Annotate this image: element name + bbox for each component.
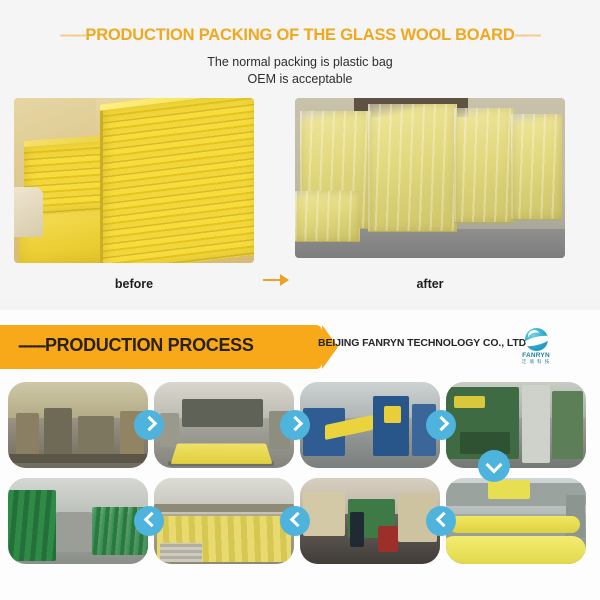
yellow-conveyor — [170, 444, 272, 465]
process-step-photo-5 — [446, 478, 586, 564]
machine-part — [373, 396, 409, 456]
wrapped-bale — [511, 114, 562, 220]
packing-subtitle: The normal packing is plastic bag OEM is… — [0, 54, 600, 88]
machine-part — [16, 413, 38, 458]
caption-before: before — [14, 277, 254, 291]
title-dash-right: ------ — [515, 26, 541, 44]
chevron-left-icon — [280, 506, 310, 536]
chevron-down-icon — [478, 450, 510, 482]
banner-dash: ------ — [18, 335, 45, 355]
process-banner-text: ------PRODUCTION PROCESS — [18, 335, 254, 356]
machine-part — [154, 504, 294, 513]
machine-part — [460, 432, 510, 454]
process-step-photo-2 — [154, 382, 294, 468]
packing-section: ------PRODUCTION PACKING OF THE GLASS WO… — [0, 0, 600, 300]
machine-part — [303, 492, 345, 537]
photo-after-packing — [295, 98, 565, 258]
machine-part — [454, 396, 485, 408]
chevron-right-icon — [426, 410, 456, 440]
green-wrapped-bales — [8, 490, 56, 561]
title-dash-left: ------ — [60, 26, 86, 44]
packing-title: ------PRODUCTION PACKING OF THE GLASS WO… — [0, 26, 600, 45]
machine-part — [552, 391, 583, 460]
banner-label: PRODUCTION PROCESS — [45, 335, 254, 355]
machine-part — [56, 512, 92, 552]
process-section: ------PRODUCTION PROCESS BEIJING FANRYN … — [0, 310, 600, 600]
process-step-photo-6 — [300, 478, 440, 564]
machine-part — [160, 543, 202, 562]
packing-title-text: PRODUCTION PACKING OF THE GLASS WOOL BOA… — [85, 26, 514, 44]
chevron-left-icon — [426, 506, 456, 536]
company-logo: FANRYN 泛 瑞 科 技 — [516, 328, 556, 364]
machine-part — [522, 385, 550, 462]
company-name: BEIJING FANRYN TECHNOLOGY CO., LTD. — [318, 337, 529, 349]
fanryn-swoosh-icon — [525, 328, 548, 351]
chevron-right-icon — [280, 410, 310, 440]
machine-part — [182, 399, 263, 427]
machine-part — [384, 406, 401, 423]
photo-before-packing — [14, 98, 254, 263]
before-board-stack-big — [100, 98, 254, 263]
caption-after: after — [295, 277, 565, 291]
packing-photo-row — [0, 98, 600, 263]
wrapped-bale — [368, 104, 457, 232]
machine-part — [78, 416, 114, 457]
packing-subtitle-line2: OEM is acceptable — [0, 71, 600, 88]
wrapped-bale — [295, 191, 360, 242]
worker-silhouette — [350, 512, 364, 546]
arrow-head — [280, 274, 289, 286]
machine-part — [488, 480, 530, 499]
process-step-photo-8 — [8, 478, 148, 564]
chevron-left-icon — [134, 506, 164, 536]
process-step-photo-4 — [446, 382, 586, 468]
process-row-bottom — [0, 478, 600, 566]
machine-part — [8, 454, 148, 463]
arrow-right-icon — [263, 274, 289, 286]
process-step-photo-3 — [300, 382, 440, 468]
yellow-batt-line — [449, 516, 581, 533]
process-step-photo-7 — [154, 478, 294, 564]
machine-part — [378, 526, 398, 552]
wrapped-bale — [454, 108, 513, 223]
machine-part — [44, 408, 72, 458]
yellow-batt-line — [446, 536, 586, 564]
logo-name-text: FANRYN — [516, 352, 556, 359]
process-step-photo-1 — [8, 382, 148, 468]
chevron-right-icon — [134, 410, 164, 440]
process-row-top — [0, 382, 600, 470]
logo-chinese-text: 泛 瑞 科 技 — [516, 359, 556, 365]
before-sack — [14, 187, 43, 237]
packing-subtitle-line1: The normal packing is plastic bag — [0, 54, 600, 71]
